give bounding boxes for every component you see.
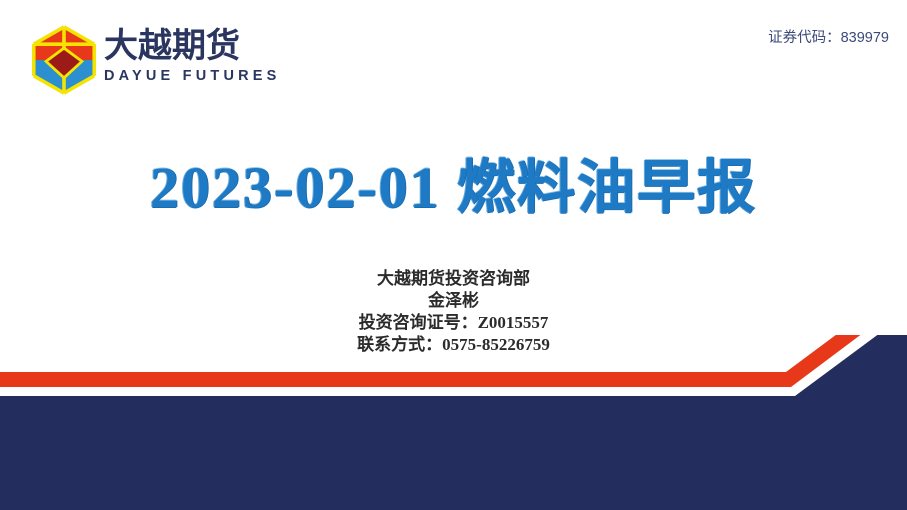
footer-decoration xyxy=(0,335,907,510)
company-wordmark: 大越期货 DAYUE FUTURES xyxy=(104,26,274,92)
security-code: 证券代码：839979 xyxy=(768,26,889,47)
footer-navy-shape xyxy=(0,335,907,510)
report-cover-page: 大越期货 DAYUE FUTURES 证券代码：839979 2023-02-0… xyxy=(0,0,907,510)
company-name-en: DAYUE FUTURES xyxy=(104,66,274,86)
company-logo: 大越期货 DAYUE FUTURES xyxy=(28,22,278,98)
department-name: 大越期货投资咨询部 xyxy=(0,268,907,290)
page-title: 2023-02-01 燃料油早报 xyxy=(0,140,907,224)
license-number: 投资咨询证号：Z0015557 xyxy=(0,312,907,334)
dayue-hexagon-logo-icon xyxy=(28,24,100,96)
analyst-name: 金泽彬 xyxy=(0,290,907,312)
footer-orange-stripe xyxy=(0,335,907,387)
company-name-cn: 大越期货 xyxy=(104,26,274,66)
